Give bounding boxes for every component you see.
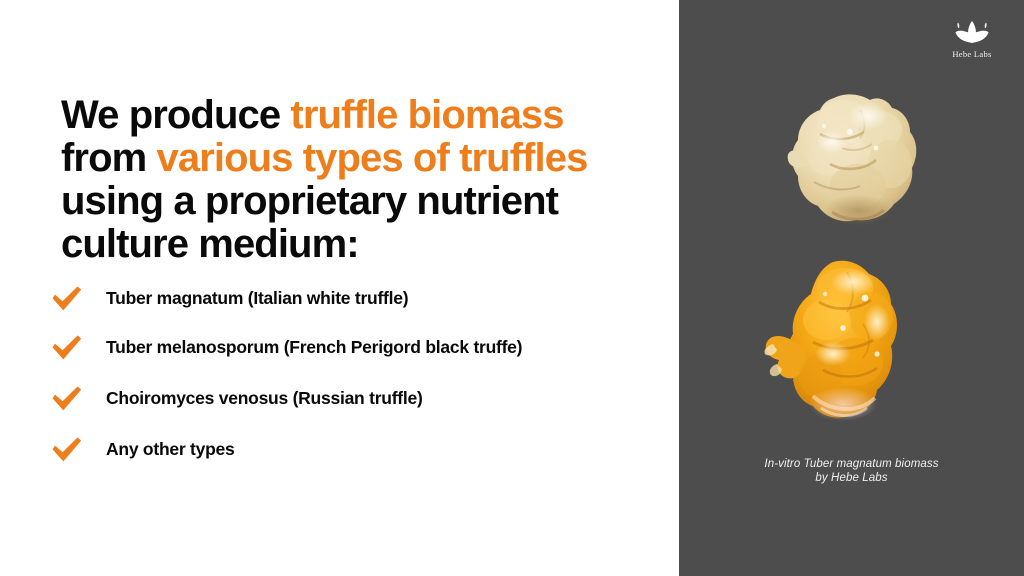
list-item-label: Any other types <box>106 439 235 460</box>
check-icon <box>50 334 84 362</box>
truffle-biomass-specimen-golden <box>759 258 917 433</box>
check-icon <box>50 436 84 464</box>
headline-text-4: culture medium: <box>61 222 359 266</box>
truffle-biomass-specimen-pale <box>772 90 932 242</box>
lotus-flower-icon <box>952 18 992 46</box>
headline-accent-2: various types of truffles <box>157 136 588 180</box>
check-icon <box>50 385 84 413</box>
headline-text-2: from <box>61 136 157 180</box>
image-caption: In-vitro Tuber magnatum biomass by Hebe … <box>679 457 1024 485</box>
list-item: Tuber melanosporum (French Perigord blac… <box>50 332 660 363</box>
list-item: Tuber magnatum (Italian white truffle) <box>50 283 660 314</box>
caption-line-1: In-vitro Tuber magnatum biomass <box>764 458 938 470</box>
headline-text-3: using a proprietary nutrient <box>61 179 558 223</box>
page-title: We produce truffle biomass from various … <box>61 94 661 266</box>
brand-name: Hebe Labs <box>940 49 1004 59</box>
check-icon <box>50 285 84 313</box>
list-item-label: Tuber magnatum (Italian white truffle) <box>106 288 408 309</box>
list-item-label: Tuber melanosporum (French Perigord blac… <box>106 337 522 358</box>
content-pane: We produce truffle biomass from various … <box>0 0 679 576</box>
list-item: Choiromyces venosus (Russian truffle) <box>50 383 660 414</box>
headline-text-1: We produce <box>61 93 290 137</box>
truffle-type-list: Tuber magnatum (Italian white truffle) T… <box>50 283 660 483</box>
list-item-label: Choiromyces venosus (Russian truffle) <box>106 388 423 409</box>
slide-root: We produce truffle biomass from various … <box>0 0 1024 576</box>
brand-logo: Hebe Labs <box>940 18 1004 59</box>
headline-accent-1: truffle biomass <box>290 93 563 137</box>
image-panel: Hebe Labs <box>679 0 1024 576</box>
list-item: Any other types <box>50 434 660 465</box>
caption-line-2: by Hebe Labs <box>815 472 887 484</box>
